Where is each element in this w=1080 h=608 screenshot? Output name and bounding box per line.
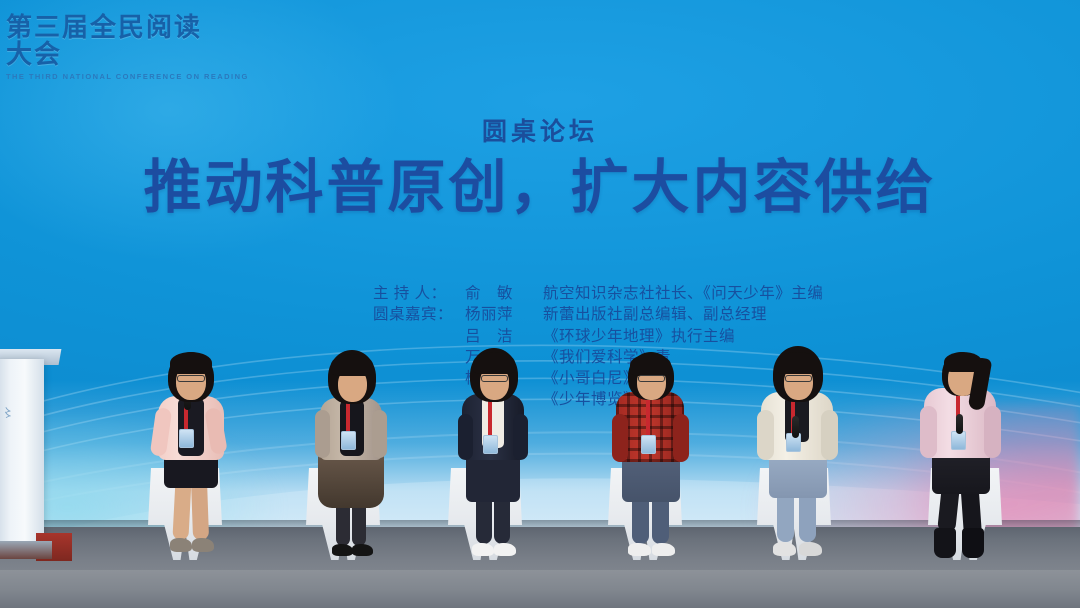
shoe <box>799 542 822 556</box>
panelist-5 <box>745 338 857 560</box>
arm <box>673 414 689 462</box>
shoe <box>332 544 353 556</box>
shoe <box>352 544 373 556</box>
shoe <box>170 538 192 552</box>
lectern-emblem: 〻 <box>2 407 22 433</box>
hair-fringe <box>776 352 819 374</box>
arm <box>984 406 1001 458</box>
event-logo-chinese: 第三届全民阅读大会 <box>6 14 216 69</box>
lanyard <box>646 398 650 438</box>
credit-name: 杨丽萍 <box>465 304 543 325</box>
arm <box>513 414 528 460</box>
arm <box>458 414 473 460</box>
lectern-body: 〻 <box>0 359 44 544</box>
panelist-4 <box>598 342 710 560</box>
boot <box>962 528 984 558</box>
event-logo: 第三届全民阅读大会 THE THIRD NATIONAL CONFERENCE … <box>6 14 216 81</box>
credit-role: 圆桌嘉宾： <box>373 304 465 325</box>
boot <box>934 528 956 558</box>
shoe <box>494 543 516 556</box>
shoe <box>652 543 675 556</box>
credit-role: 主 持 人： <box>373 283 465 304</box>
leg <box>352 502 366 546</box>
lanyard <box>488 398 492 438</box>
hair-fringe <box>170 352 212 374</box>
panelist-1 <box>140 335 250 560</box>
lanyard <box>346 400 350 434</box>
lectern-base <box>0 541 52 559</box>
panelist-2 <box>300 340 410 560</box>
badge <box>483 435 498 454</box>
credit-title: 航空知识杂志社社长、《问天少年》主编 <box>543 283 823 304</box>
hair-fringe <box>473 352 515 374</box>
hair-fringe <box>944 352 982 372</box>
panelist-3 <box>442 338 552 560</box>
stage-floor-front-edge <box>0 570 1080 608</box>
stage-photograph: 第三届全民阅读大会 THE THIRD NATIONAL CONFERENCE … <box>0 0 1080 608</box>
microphone <box>956 414 963 434</box>
arm <box>372 410 387 458</box>
credit-title: 新蕾出版社副总编辑、副总经理 <box>543 304 767 325</box>
shoe <box>773 542 796 556</box>
hair-fringe <box>630 354 671 376</box>
leg <box>336 502 350 546</box>
event-logo-english: THE THIRD NATIONAL CONFERENCE ON READING <box>6 72 216 81</box>
glasses <box>177 375 205 382</box>
badge <box>641 435 656 454</box>
arm <box>821 410 838 460</box>
arm <box>612 414 628 462</box>
credit-row: 圆桌嘉宾： 杨丽萍 新蕾出版社副总编辑、副总经理 <box>0 304 1080 325</box>
shoe <box>192 538 214 552</box>
arm <box>315 410 330 458</box>
shoe <box>628 543 651 556</box>
glasses <box>481 375 508 382</box>
arm <box>920 406 937 458</box>
microphone <box>792 416 799 438</box>
credit-name: 俞 敏 <box>465 283 543 304</box>
lectern: 〻 <box>0 345 64 560</box>
hair-fringe <box>331 354 373 376</box>
glasses <box>638 375 665 382</box>
slide-headline: 推动科普原创，扩大内容供给 <box>0 155 1080 222</box>
credit-row: 主 持 人： 俞 敏 航空知识杂志社社长、《问天少年》主编 <box>0 283 1080 304</box>
arm <box>757 410 774 460</box>
panelist-6 <box>906 334 1026 560</box>
badge <box>341 431 356 450</box>
badge <box>179 429 194 448</box>
slide-kicker: 圆桌论坛 <box>0 112 1080 148</box>
shoe <box>472 543 494 556</box>
glasses <box>785 375 812 382</box>
